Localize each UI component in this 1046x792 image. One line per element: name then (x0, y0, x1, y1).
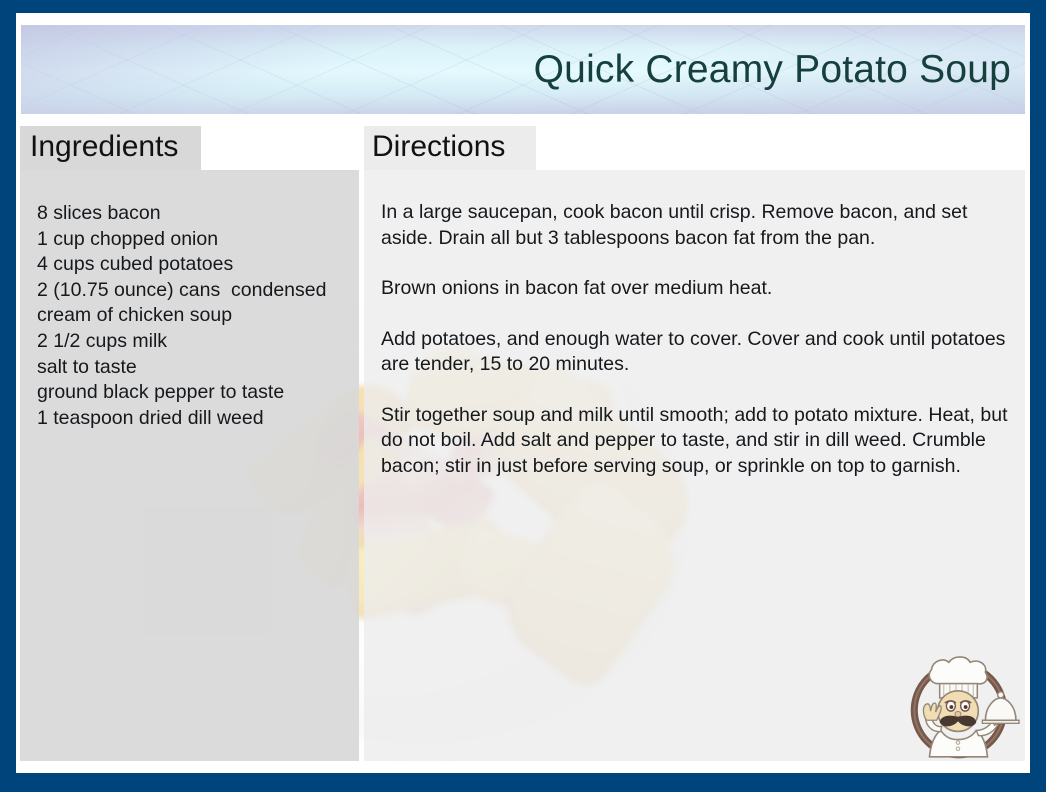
ingredients-panel: 8 slices bacon 1 cup chopped onion 4 cup… (20, 170, 359, 761)
directions-header-tab: Directions (364, 126, 536, 170)
directions-heading: Directions (372, 130, 505, 164)
page-title: Quick Creamy Potato Soup (534, 48, 1011, 92)
list-item: 1 cup chopped onion (37, 227, 357, 253)
ingredients-heading: Ingredients (30, 130, 178, 164)
direction-step: Stir together soup and milk until smooth… (381, 403, 1013, 480)
list-item: salt to taste (37, 355, 357, 381)
direction-step: Brown onions in bacon fat over medium he… (381, 276, 1013, 302)
directions-body: In a large saucepan, cook bacon until cr… (381, 200, 1013, 479)
direction-step: Add potatoes, and enough water to cover.… (381, 327, 1013, 378)
title-banner: Quick Creamy Potato Soup (21, 25, 1025, 114)
slide-canvas: Quick Creamy Potato Soup Ingredients 8 s… (16, 13, 1030, 773)
slide-frame: Quick Creamy Potato Soup Ingredients 8 s… (0, 0, 1046, 792)
list-item: ground black pepper to taste (37, 380, 357, 406)
ingredients-list: 8 slices bacon 1 cup chopped onion 4 cup… (37, 201, 357, 431)
direction-step: In a large saucepan, cook bacon until cr… (381, 200, 1013, 251)
list-item: 2 1/2 cups milk (37, 329, 357, 355)
list-item: 1 teaspoon dried dill weed (37, 406, 357, 432)
chef-logo-icon (898, 643, 1020, 765)
list-item: cream of chicken soup (37, 303, 357, 329)
ingredients-header-tab: Ingredients (20, 126, 201, 170)
list-item: 4 cups cubed potatoes (37, 252, 357, 278)
list-item: 2 (10.75 ounce) cans condensed (37, 278, 357, 304)
list-item: 8 slices bacon (37, 201, 357, 227)
